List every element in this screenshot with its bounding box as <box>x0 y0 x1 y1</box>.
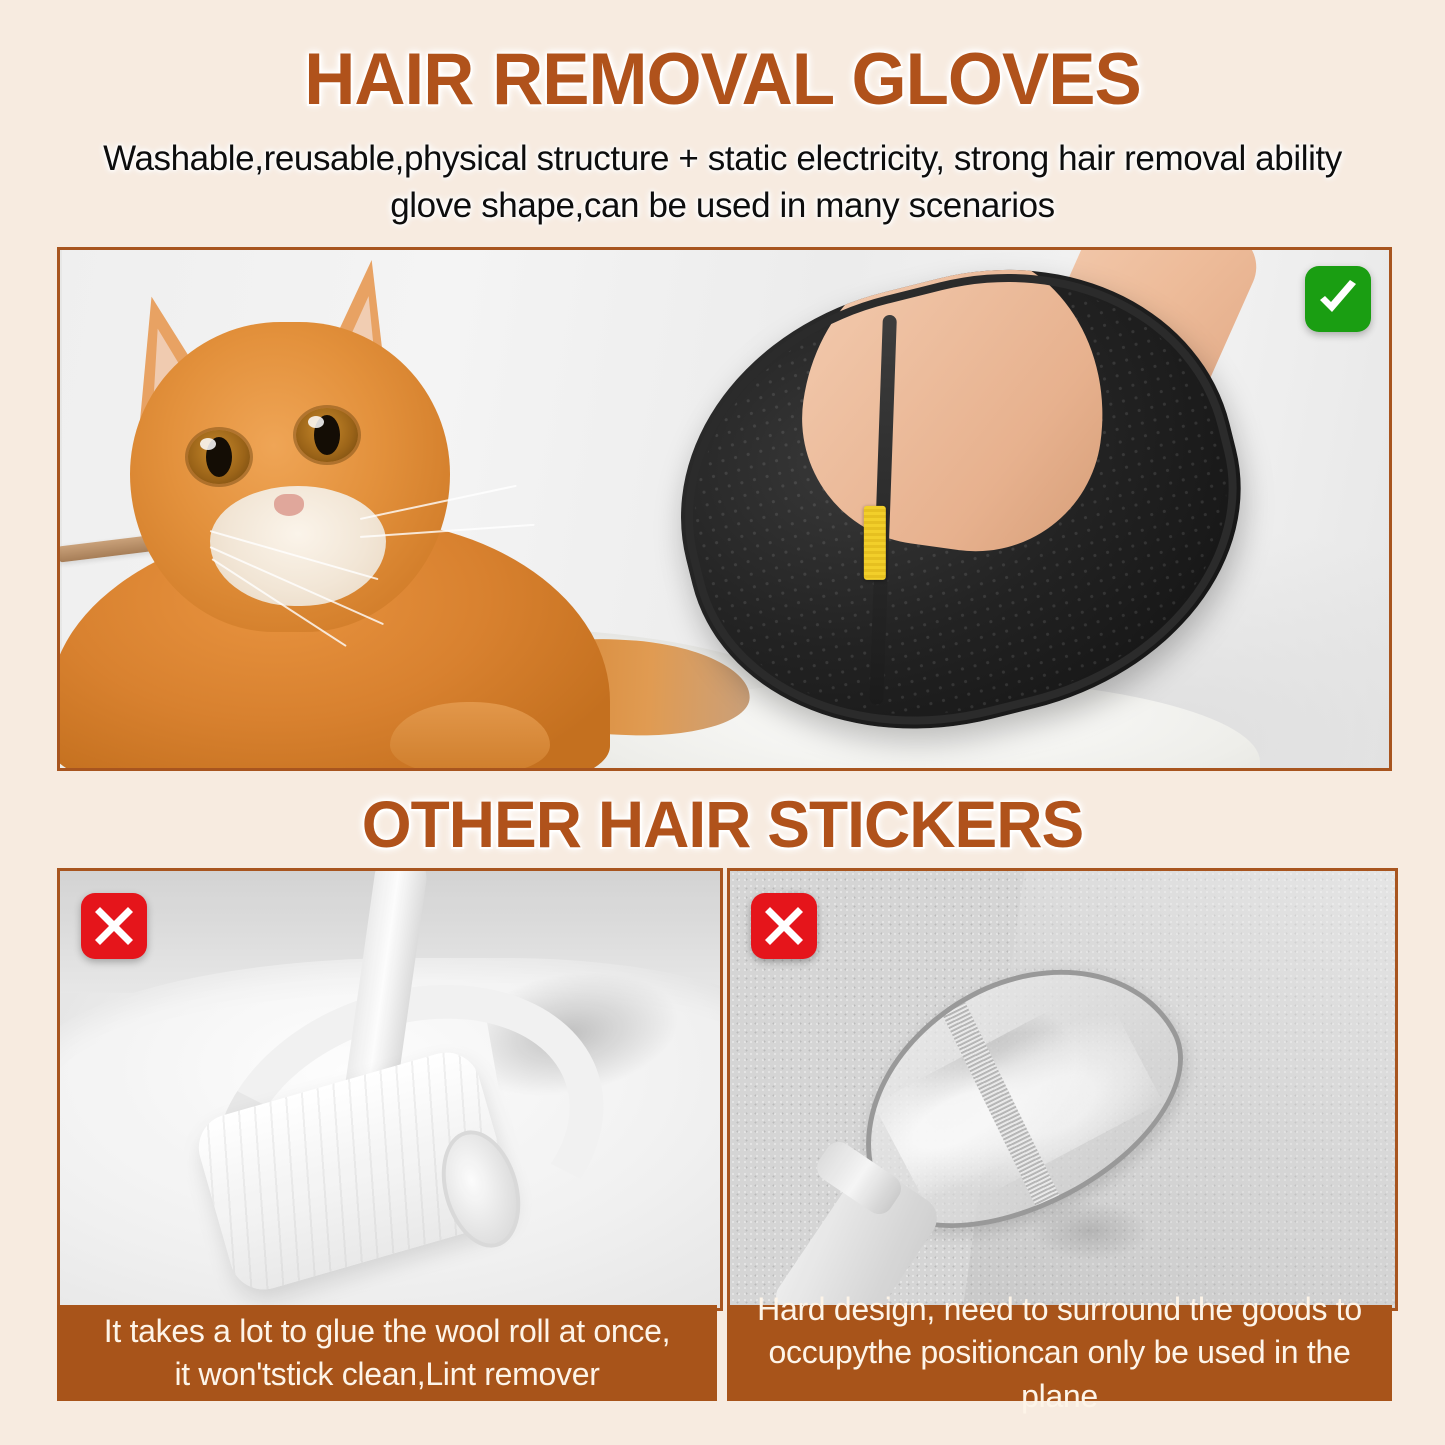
caption-line: Hard design, need to surround the goods … <box>757 1291 1362 1327</box>
page-title: HAIR REMOVAL GLOVES <box>22 38 1424 121</box>
caption-line: it won'tstick clean,Lint remover <box>174 1356 599 1392</box>
check-badge <box>1305 266 1371 332</box>
lint-speck <box>1030 1201 1150 1261</box>
caption-line: occupythe positioncan only be used in th… <box>769 1334 1351 1413</box>
fabric-shaver-photo <box>730 871 1395 1308</box>
orange-cat <box>60 250 700 768</box>
product-infographic: HAIR REMOVAL GLOVES Washable,reusable,ph… <box>0 0 1445 1445</box>
hero-photo-cat-with-glove <box>60 250 1389 768</box>
lint-roller-image-frame <box>57 868 723 1311</box>
lint-roller-photo <box>60 871 720 1308</box>
hair-removal-glove-product <box>670 247 1390 770</box>
x-badge <box>81 893 147 959</box>
lint-roller-caption: It takes a lot to glue the wool roll at … <box>57 1305 717 1401</box>
cat-nose <box>274 494 304 516</box>
hero-image-frame <box>57 247 1392 771</box>
caption-line: It takes a lot to glue the wool roll at … <box>104 1313 670 1349</box>
cat-eye-glint-right <box>308 416 324 428</box>
section-title-other-hair-stickers: OTHER HAIR STICKERS <box>22 786 1424 862</box>
page-subtitle: Washable,reusable,physical structure + s… <box>78 136 1368 229</box>
cat-eye-glint-left <box>200 438 216 450</box>
fabric-shaver-caption: Hard design, need to surround the goods … <box>727 1305 1392 1401</box>
cat-eye-left <box>188 430 250 484</box>
cat-eye-right <box>296 408 358 462</box>
fabric-shaver-image-frame <box>727 868 1398 1311</box>
x-badge <box>751 893 817 959</box>
